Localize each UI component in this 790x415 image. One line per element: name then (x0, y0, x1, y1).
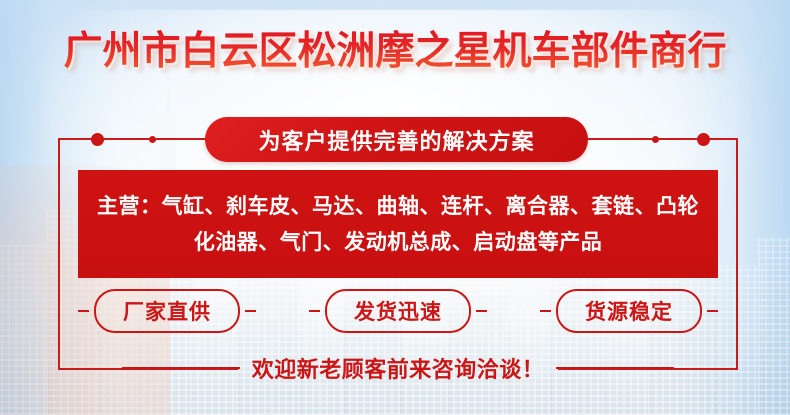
subtitle-pill: 为客户提供完善的解决方案 (205, 117, 588, 162)
dash-right-icon (707, 310, 718, 312)
feature-badge-factory-direct[interactable]: 厂家直供 (78, 289, 256, 333)
dash-right-icon (476, 310, 487, 312)
badge-pill: 厂家直供 (94, 289, 240, 333)
badge-pill: 货源稳定 (556, 289, 702, 333)
footer-rule-right (556, 367, 674, 369)
frame-line-top-right (585, 138, 738, 140)
frame-dot-large-right (697, 133, 710, 146)
product-list-line-2: 化油器、气门、发动机总成、启动盘等产品 (194, 224, 603, 260)
frame-line-right (736, 138, 738, 370)
footer-invitation-row: 欢迎新老顾客前来咨询洽谈！ (58, 348, 738, 388)
frame-line-left (58, 138, 60, 370)
dash-right-icon (245, 310, 256, 312)
badge-label: 厂家直供 (123, 296, 211, 326)
frame-line-top-left (58, 138, 208, 140)
footer-invitation-text: 欢迎新老顾客前来咨询洽谈！ (240, 352, 557, 384)
frame-dot-large-left (91, 133, 104, 146)
company-title: 广州市白云区松洲摩之星机车部件商行 (0, 28, 790, 76)
feature-badge-row: 厂家直供 发货迅速 货源稳定 (78, 288, 718, 334)
feature-badge-stable-supply[interactable]: 货源稳定 (540, 289, 718, 333)
dash-left-icon (540, 310, 551, 312)
product-list-box: 主营：气缸、刹车皮、马达、曲轴、连杆、离合器、套链、凸轮 化油器、气门、发动机总… (78, 170, 718, 278)
product-list-line-1: 主营：气缸、刹车皮、马达、曲轴、连杆、离合器、套链、凸轮 (97, 188, 699, 224)
skyline-building (758, 237, 790, 415)
badge-label: 货源稳定 (585, 296, 673, 326)
badge-label: 发货迅速 (354, 296, 442, 326)
subtitle-text: 为客户提供完善的解决方案 (258, 124, 534, 156)
footer-rule-left (122, 367, 240, 369)
dash-left-icon (78, 310, 89, 312)
frame-dot-small-left (149, 136, 156, 143)
promo-banner: 广州市白云区松洲摩之星机车部件商行 为客户提供完善的解决方案 主营：气缸、刹车皮… (0, 0, 790, 415)
feature-badge-fast-shipping[interactable]: 发货迅速 (309, 289, 487, 333)
badge-pill: 发货迅速 (325, 289, 471, 333)
dash-left-icon (309, 310, 320, 312)
frame-dot-small-right (652, 136, 659, 143)
